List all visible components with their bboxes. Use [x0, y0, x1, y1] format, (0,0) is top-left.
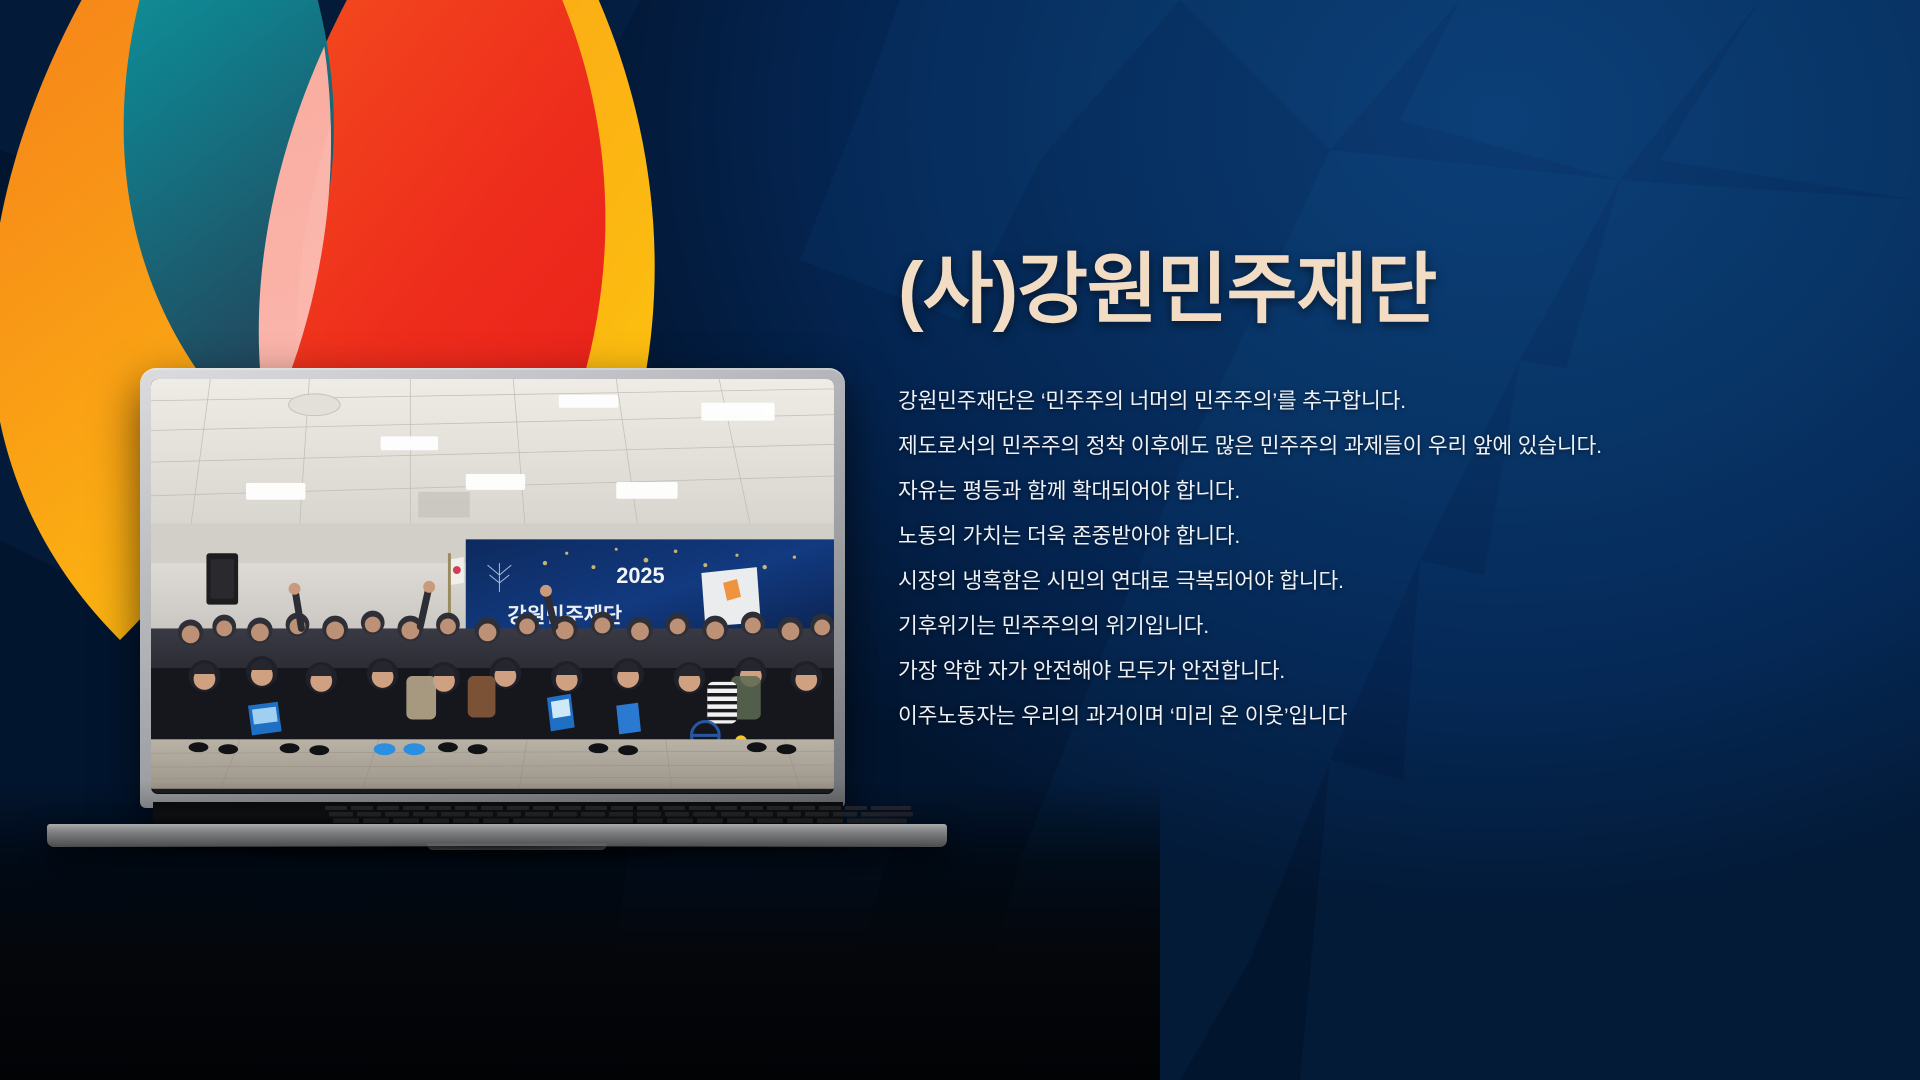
laptop-drop-shadow [65, 846, 925, 862]
laptop-base [25, 802, 950, 844]
group-photo: 2025 강원민주재단 [151, 379, 834, 789]
mission-line-5: 시장의 냉혹함은 시민의 연대로 극복되어야 합니다. [898, 571, 1898, 593]
keyboard-icon [323, 805, 923, 824]
laptop-base-bar [47, 824, 947, 847]
mission-line-3: 자유는 평등과 함께 확대되어야 합니다. [898, 481, 1898, 503]
mission-line-2: 제도로서의 민주주의 정착 이후에도 많은 민주주의 과제들이 우리 앞에 있습… [898, 436, 1898, 458]
laptop-screen: 2025 강원민주재단 [151, 379, 834, 794]
svg-text:2025: 2025 [616, 563, 664, 588]
mission-line-4: 노동의 가치는 더욱 존중받아야 합니다. [898, 526, 1898, 548]
mission-line-1: 강원민주재단은 ‘민주주의 너머의 민주주의’를 추구합니다. [898, 391, 1898, 413]
laptop-lid: 2025 강원민주재단 [140, 368, 845, 808]
mission-line-7: 가장 약한 자가 안전해야 모두가 안전합니다. [898, 661, 1898, 683]
page-title: (사)강원민주재단 [898, 252, 1898, 329]
mission-statement-list: 강원민주재단은 ‘민주주의 너머의 민주주의’를 추구합니다. 제도로서의 민주… [898, 391, 1898, 728]
slide-canvas: 2025 강원민주재단 [0, 0, 1920, 1080]
laptop-mockup: 2025 강원민주재단 [25, 368, 950, 873]
mission-line-8: 이주노동자는 우리의 과거이며 ‘미리 온 이웃’입니다 [898, 706, 1898, 728]
mission-line-6: 기후위기는 민주주의의 위기입니다. [898, 616, 1898, 638]
text-content-column: (사)강원민주재단 강원민주재단은 ‘민주주의 너머의 민주주의’를 추구합니다… [898, 252, 1898, 728]
